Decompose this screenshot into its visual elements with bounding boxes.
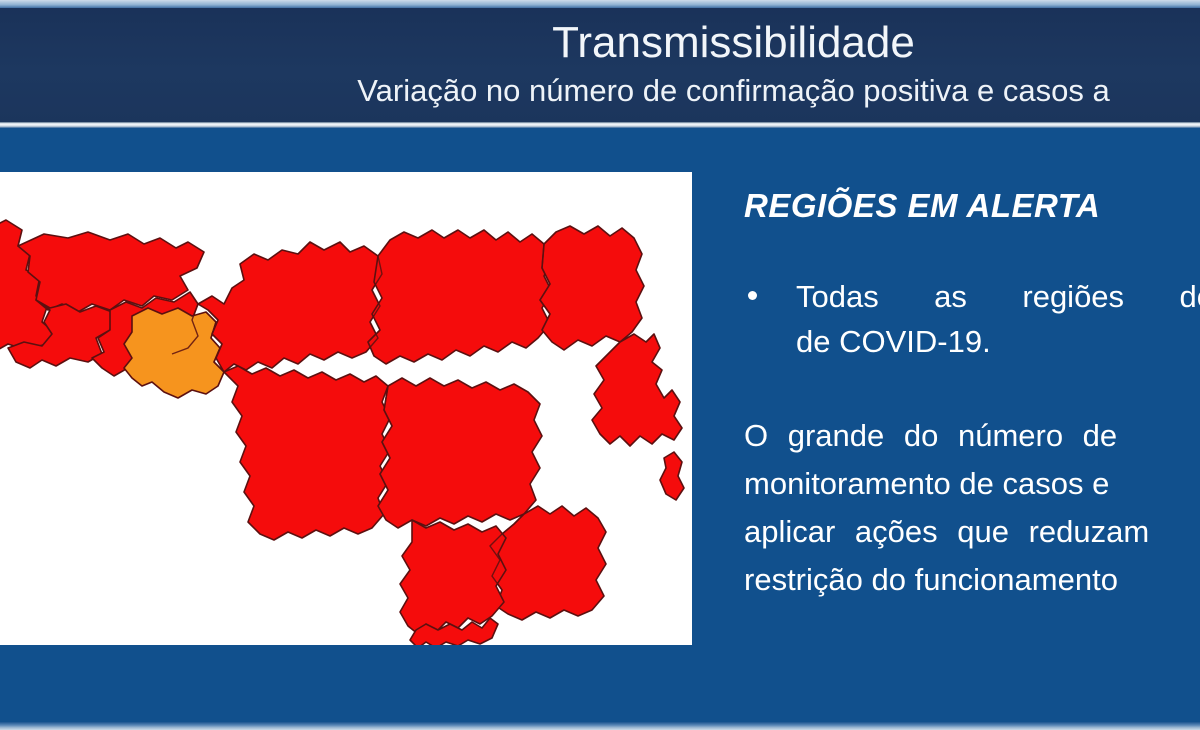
paragraph-line-3: aplicar ações que reduzam xyxy=(744,508,1200,556)
alert-text-column: REGIÕES EM ALERTA Todas as regiões do de… xyxy=(744,186,1200,604)
alert-heading: REGIÕES EM ALERTA xyxy=(744,186,1200,226)
top-accent-strip xyxy=(0,0,1200,8)
slide-header-band: Transmissibilidade Variação no número de… xyxy=(0,8,1200,124)
santa-catarina-choropleth-map xyxy=(0,172,692,645)
alert-bullet-item: Todas as regiões do de COVID-19. xyxy=(744,274,1200,364)
map-region-grande-florianopolis xyxy=(378,378,542,528)
map-region-vale-do-itajai xyxy=(368,230,552,364)
map-region-extremo-sul xyxy=(400,520,506,634)
alert-paragraph-text: O grande do número de monitoramento de c… xyxy=(744,412,1200,604)
map-region-nordeste xyxy=(540,226,644,350)
bullet-line-1: Todas as regiões do xyxy=(796,274,1200,319)
bottom-accent-strip xyxy=(0,722,1200,730)
slide-title: Transmissibilidade xyxy=(0,17,1200,69)
map-panel xyxy=(0,172,692,645)
bullet-dot-icon xyxy=(748,291,757,300)
paragraph-line-4: restrição do funcionamento xyxy=(744,556,1200,604)
alert-bullet-text: Todas as regiões do de COVID-19. xyxy=(796,274,1200,364)
slide-subtitle: Variação no número de confirmação positi… xyxy=(0,71,1200,111)
paragraph-line-1: O grande do número de xyxy=(744,412,1200,460)
presentation-slide: Transmissibilidade Variação no número de… xyxy=(0,0,1200,730)
paragraph-line-2: monitoramento de casos e xyxy=(744,460,1200,508)
alert-paragraph: O grande do número de monitoramento de c… xyxy=(744,412,1200,604)
bullet-line-2: de COVID-19. xyxy=(796,319,1200,364)
header-content: Transmissibilidade Variação no número de… xyxy=(0,8,1200,124)
